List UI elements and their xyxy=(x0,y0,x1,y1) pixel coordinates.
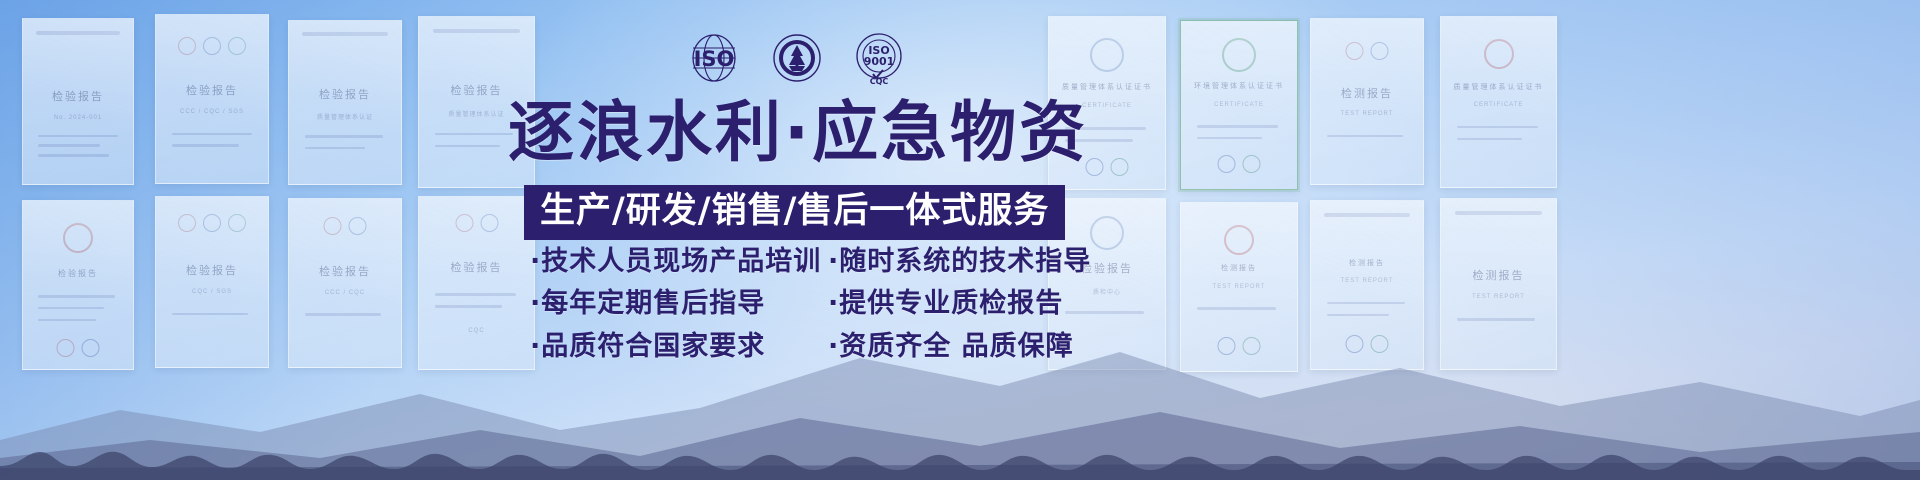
certificate-header-rule xyxy=(1324,213,1409,217)
iso-globe-badge: ISO xyxy=(686,32,742,89)
certificate-subtitle: No. 2024-001 xyxy=(54,115,102,121)
certificate-text-line xyxy=(1457,126,1538,129)
certificate-subtitle: 质检中心 xyxy=(1093,287,1121,296)
certificate-card: 检验报告 CCC / CQC / SGS xyxy=(155,14,269,184)
certificate-subtitle: CQC xyxy=(468,328,484,334)
certificate-subtitle: TEST REPORT xyxy=(1341,278,1394,284)
certificate-logo-row xyxy=(57,339,100,357)
certificate-logo-row xyxy=(1346,42,1389,60)
certificate-subtitle: CERTIFICATE xyxy=(1214,102,1264,108)
certificate-subtitle: TEST REPORT xyxy=(1341,111,1394,117)
certificate-title: 检验报告 xyxy=(319,86,371,102)
certificate-logo-row xyxy=(1346,335,1389,353)
certificate-text-line xyxy=(1197,307,1276,310)
certificate-card: 检验报告 xyxy=(22,200,134,370)
ccc-mark-icon xyxy=(178,37,196,55)
cqc-mark-icon xyxy=(480,214,498,232)
certificate-card: 检测报告 TEST REPORT xyxy=(1440,198,1557,370)
certificate-subtitle: 质量管理体系认证 xyxy=(448,109,504,118)
certificate-text-line xyxy=(172,133,253,136)
certificate-text-line xyxy=(172,313,248,316)
iso-globe-icon: ISO xyxy=(686,32,742,84)
cqc-mark-icon xyxy=(1371,42,1389,60)
certificate-text-line xyxy=(1457,138,1521,141)
certificate-title: 检验报告 xyxy=(319,263,371,279)
iaf-mark-icon xyxy=(1346,335,1364,353)
feature-list: ·技术人员现场产品培训 ·随时系统的技术指导 ·每年定期售后指导 ·提供专业质检… xyxy=(530,248,1068,361)
certificate-logo-row xyxy=(1218,155,1261,173)
feature-item: ·提供专业质检报告 xyxy=(828,290,1068,318)
feature-item: ·技术人员现场产品培训 xyxy=(530,248,810,276)
cqc-mark-icon xyxy=(82,339,100,357)
certificate-seal-icon xyxy=(1224,225,1254,255)
certificate-title: 检测报告 xyxy=(1349,258,1385,268)
certificate-subtitle: CCC / CQC xyxy=(325,290,365,296)
certificate-title: 检验报告 xyxy=(186,262,238,278)
certificate-title: 检测报告 xyxy=(1341,85,1393,101)
certificate-header-rule xyxy=(36,31,120,35)
certificate-stamp-icon xyxy=(1090,216,1124,250)
certificate-title: 检测报告 xyxy=(1221,263,1257,273)
cnas-mark-icon xyxy=(1243,337,1261,355)
certificate-card: 检验报告 质量管理体系认证 xyxy=(288,20,402,185)
certificate-subtitle: 质量管理体系认证 xyxy=(317,112,373,121)
iso9001-cqc-seal-icon: ISO 9001 CQC xyxy=(852,31,906,85)
certificate-header-rule xyxy=(1455,211,1542,215)
certificate-text-line xyxy=(38,307,104,310)
feature-item: ·资质齐全 品质保障 xyxy=(828,333,1068,361)
sgs-mark-icon xyxy=(203,37,221,55)
iaf-mark-icon xyxy=(1086,158,1104,176)
certificate-card: 检测报告 TEST REPORT xyxy=(1180,202,1298,372)
certificate-subtitle: CQC / SGS xyxy=(192,289,232,295)
cnas-mark-icon xyxy=(1371,335,1389,353)
certificate-subtitle: CERTIFICATE xyxy=(1082,103,1132,109)
cnas-mark-icon xyxy=(1111,158,1129,176)
sgs-mark-icon xyxy=(203,214,221,232)
certificate-stamp-icon xyxy=(1222,38,1256,72)
certificate-text-line xyxy=(1457,318,1535,321)
certificate-text-line xyxy=(38,154,108,157)
certificate-seal-icon xyxy=(1484,39,1514,69)
iso9001-cqc-badge: ISO 9001 CQC xyxy=(852,31,906,90)
feature-item: ·随时系统的技术指导 xyxy=(828,248,1068,276)
certificate-title: 质量管理体系认证证书 xyxy=(1454,82,1544,92)
certificate-subtitle: TEST REPORT xyxy=(1472,294,1525,300)
certificate-seal-icon xyxy=(63,223,93,253)
certificate-text-line xyxy=(1065,311,1144,314)
certificate-title: 检验报告 xyxy=(451,82,503,98)
certificate-text-line xyxy=(38,144,100,147)
certificate-logo-row xyxy=(178,37,246,55)
banner-headline: 逐浪水利·应急物资 xyxy=(508,100,1088,166)
cnas-mark-icon xyxy=(1243,155,1261,173)
promo-banner: 检验报告 No. 2024-001 检验报告 CCC / CQC / SGS 检… xyxy=(0,0,1920,480)
certification-badge-row: ISO ISO 9001 CQC xyxy=(686,32,906,88)
certificate-card: 检验报告 CQC xyxy=(418,196,535,370)
svg-text:9001: 9001 xyxy=(864,55,895,68)
banner-subtitle-text: 生产/研发/销售/售后一体式服务 xyxy=(540,191,1049,231)
certificate-text-line xyxy=(305,313,381,316)
certificate-text-line xyxy=(435,305,502,308)
certificate-title: 检验报告 xyxy=(58,268,98,279)
certificate-stamp-icon xyxy=(1090,38,1124,72)
certificate-logo-row xyxy=(1218,337,1261,355)
certificate-text-line xyxy=(1327,314,1390,317)
ccc-mark-icon xyxy=(57,339,75,357)
certificate-logo-row xyxy=(455,214,498,232)
iso14000-environment-badge xyxy=(770,32,824,89)
certificate-subtitle: CERTIFICATE xyxy=(1474,102,1524,108)
certificate-title: 环境管理体系认证证书 xyxy=(1194,81,1284,91)
certificate-text-line xyxy=(1327,302,1405,305)
certificate-logo-row xyxy=(324,217,367,235)
ccc-mark-icon xyxy=(1346,42,1364,60)
cqc-mark-icon xyxy=(349,217,367,235)
certificate-text-line xyxy=(435,133,513,136)
certificate-text-line xyxy=(38,319,95,322)
certificate-card: 检测报告 TEST REPORT xyxy=(1310,18,1424,185)
certificate-card: 质量管理体系认证证书 CERTIFICATE xyxy=(1440,16,1557,188)
certificate-card: 检验报告 CCC / CQC xyxy=(288,198,402,368)
certificate-card: 检验报告 No. 2024-001 xyxy=(22,18,134,185)
certificate-header-rule xyxy=(302,32,387,36)
certificate-title: 质量管理体系认证证书 xyxy=(1062,82,1152,92)
certificate-logo-row xyxy=(1086,158,1129,176)
ccc-mark-icon xyxy=(455,214,473,232)
cqc-mark-icon xyxy=(228,214,246,232)
certificate-title: 检验报告 xyxy=(52,88,104,104)
svg-text:CQC: CQC xyxy=(870,77,889,85)
certificate-text-line xyxy=(435,145,499,148)
iso14000-tree-seal-icon xyxy=(770,32,824,84)
certificate-text-line xyxy=(1197,125,1278,128)
certificate-text-line xyxy=(435,293,516,296)
feature-item: ·每年定期售后指导 xyxy=(530,290,810,318)
certificate-text-line xyxy=(305,135,383,138)
certificate-title: 检测报告 xyxy=(1473,267,1525,283)
svg-text:ISO: ISO xyxy=(694,47,735,71)
certificate-subtitle: TEST REPORT xyxy=(1213,284,1266,290)
cqc-mark-icon xyxy=(228,37,246,55)
certificate-card: 检测报告 TEST REPORT xyxy=(1310,200,1424,370)
iaf-mark-icon xyxy=(1218,337,1236,355)
certificate-text-line xyxy=(172,144,239,147)
certificate-wall: 检验报告 No. 2024-001 检验报告 CCC / CQC / SGS 检… xyxy=(0,0,1920,480)
certificate-text-line xyxy=(1327,135,1403,138)
ccc-mark-icon xyxy=(178,214,196,232)
iaf-mark-icon xyxy=(1218,155,1236,173)
feature-item: ·品质符合国家要求 xyxy=(530,333,810,361)
certificate-text-line xyxy=(38,295,115,298)
certificate-card: 检验报告 CQC / SGS xyxy=(155,196,269,368)
certificate-text-line xyxy=(1197,137,1262,140)
banner-subtitle-bar: 生产/研发/销售/售后一体式服务 xyxy=(524,185,1065,240)
certificate-header-rule xyxy=(433,29,520,33)
certificate-title: 检验报告 xyxy=(186,82,238,98)
certificate-text-line xyxy=(305,147,366,150)
certificate-text-line xyxy=(38,135,117,138)
certificate-card-environment: 环境管理体系认证证书 CERTIFICATE xyxy=(1180,20,1298,190)
ccc-mark-icon xyxy=(324,217,342,235)
certificate-logo-row xyxy=(178,214,246,232)
certificate-subtitle: CCC / CQC / SGS xyxy=(180,109,244,115)
certificate-title: 检验报告 xyxy=(451,259,503,275)
